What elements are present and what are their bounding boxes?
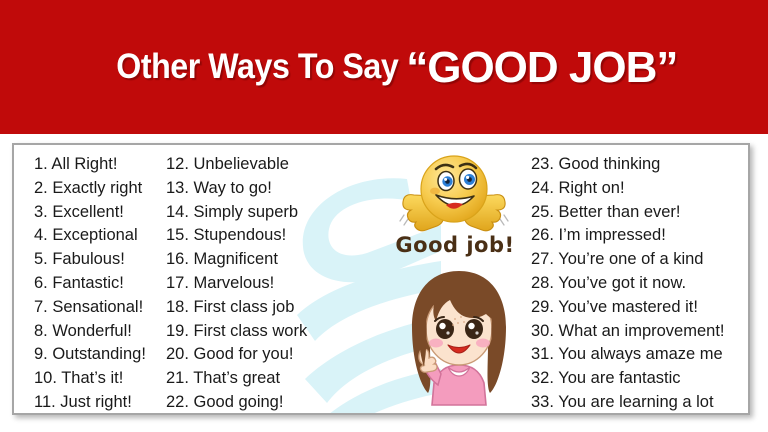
list-item: 13. Way to go! [166, 177, 331, 201]
good-job-caption: Good job! [390, 233, 520, 257]
list-item: 6. Fantastic! [34, 272, 174, 296]
list-item: 2. Exactly right [34, 177, 174, 201]
phrase-list-1: 1. All Right! 2. Exactly right 3. Excell… [34, 153, 174, 415]
list-item: 17. Marvelous! [166, 272, 331, 296]
list-item: 31. You always amaze me [531, 343, 746, 367]
phrase-list-2: 12. Unbelievable 13. Way to go! 14. Simp… [166, 153, 331, 415]
list-item: 28. You’ve got it now. [531, 272, 746, 296]
phrase-column-3: 23. Good thinking 24. Right on! 25. Bett… [531, 153, 746, 415]
list-item: 27. You’re one of a kind [531, 248, 746, 272]
list-item: 3. Excellent! [34, 201, 174, 225]
content-card: 1. All Right! 2. Exactly right 3. Excell… [12, 143, 750, 415]
list-item: 18. First class job [166, 296, 331, 320]
list-item: 14. Simply superb [166, 201, 331, 225]
phrase-column-1: 1. All Right! 2. Exactly right 3. Excell… [34, 153, 174, 415]
phrase-list-3: 23. Good thinking 24. Right on! 25. Bett… [531, 153, 746, 415]
list-item: 10. That’s it! [34, 367, 174, 391]
list-item: 19. First class work [166, 320, 331, 344]
list-item: 7. Sensational! [34, 296, 174, 320]
list-item: 26. I’m impressed! [531, 224, 746, 248]
list-item: 5. Fabulous! [34, 248, 174, 272]
poster-root: Other Ways To Say“GOOD JOB” 1. All Right… [0, 0, 768, 432]
list-item: 33. You are learning a lot [531, 391, 746, 415]
list-item: 12. Unbelievable [166, 153, 331, 177]
cartoon-girl-thumbs-up-icon [398, 267, 520, 407]
list-item: 21. That’s great [166, 367, 331, 391]
list-item: 20. Good for you! [166, 343, 331, 367]
list-item: 16. Magnificent [166, 248, 331, 272]
list-item: 25. Better than ever! [531, 201, 746, 225]
list-item: 15. Stupendous! [166, 224, 331, 248]
page-title: Other Ways To Say“GOOD JOB” [0, 0, 768, 134]
list-item: 11. Just right! [34, 391, 174, 415]
list-item: 23. Good thinking [531, 153, 746, 177]
list-item: 29. You’ve mastered it! [531, 296, 746, 320]
list-item: 9. Outstanding! [34, 343, 174, 367]
list-item: 24. Right on! [531, 177, 746, 201]
list-item: 8. Wonderful! [34, 320, 174, 344]
smiling-face-two-thumbs-up-icon [394, 153, 514, 235]
list-item: 30. What an improvement! [531, 320, 746, 344]
header-banner: Other Ways To Say“GOOD JOB” [0, 0, 768, 134]
list-item: 22. Good going! [166, 391, 331, 415]
list-item: 1. All Right! [34, 153, 174, 177]
illustration-block: Good job! [332, 145, 532, 413]
phrase-column-2: 12. Unbelievable 13. Way to go! 14. Simp… [166, 153, 331, 415]
list-item: 32. You are fantastic [531, 367, 746, 391]
page-title-quoted: “GOOD JOB” [406, 43, 677, 93]
list-item: 4. Exceptional [34, 224, 174, 248]
page-title-lead: Other Ways To Say [116, 47, 406, 87]
